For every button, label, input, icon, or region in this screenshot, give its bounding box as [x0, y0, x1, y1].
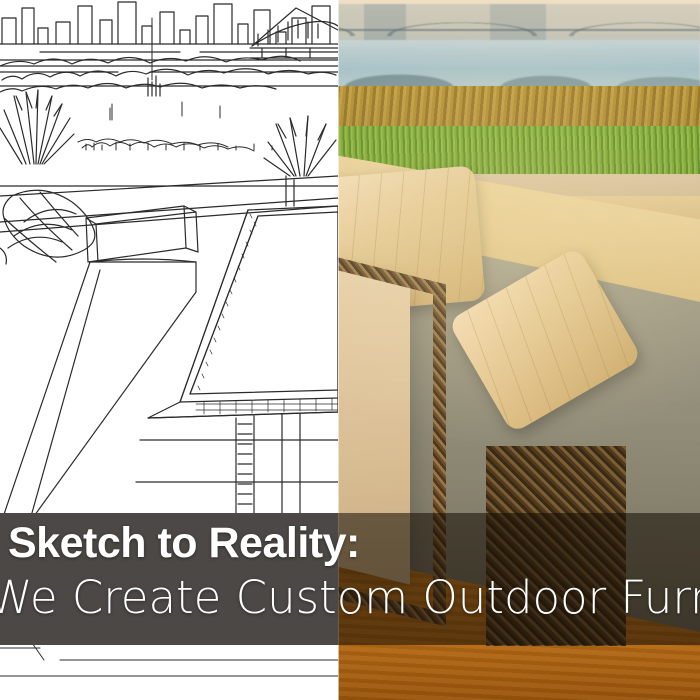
sketch-deck — [0, 640, 338, 676]
sketch-bridge — [250, 8, 338, 58]
sketch-agave-right — [264, 116, 336, 176]
sketch-grass — [78, 102, 272, 151]
sketch-sofa-seat — [0, 259, 196, 530]
sketch-agave-left — [0, 90, 74, 164]
band-text-group: Sketch to Reality: We Create Custom Outd… — [0, 513, 700, 645]
sketch-water — [0, 60, 338, 66]
banner-image: Sketch to Reality: We Create Custom Outd… — [0, 0, 700, 700]
sketch-pillow — [0, 190, 95, 264]
headline: Sketch to Reality: — [8, 519, 360, 568]
sketch-table-weave — [196, 214, 338, 414]
sketch-skyline — [0, 2, 338, 52]
subheadline: We Create Custom Outdoor Furniture — [0, 571, 700, 624]
sketch-table — [148, 206, 338, 418]
text-overlay-band: Sketch to Reality: We Create Custom Outd… — [0, 513, 700, 645]
